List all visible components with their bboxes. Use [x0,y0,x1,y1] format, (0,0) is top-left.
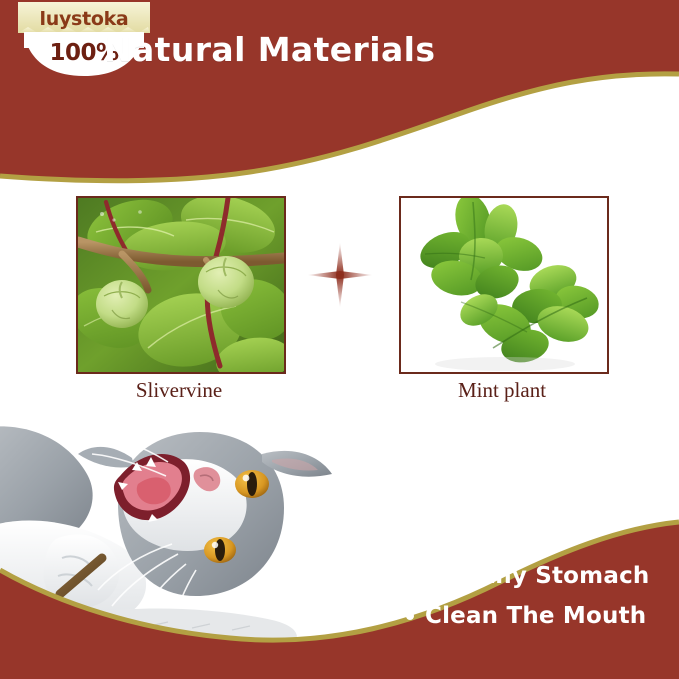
brand-name-text: luystoka [40,8,129,30]
plus-icon [305,240,375,310]
caption-mint: Mint plant [399,378,605,403]
bullet-dot-icon [406,612,414,620]
caption-silvervine: Slivervine [76,378,282,403]
bullet-dot-icon [406,572,414,580]
benefit-item: Healthy Stomach [406,563,676,589]
ingredient-image-silvervine [76,196,286,374]
silvervine-fruit-right [198,256,254,308]
silvervine-fruit-left [96,280,148,328]
benefits-list: Healthy Stomach Clean The Mouth [406,563,676,643]
benefit-label: Clean The Mouth [425,603,646,629]
page-title: Natural Materials [104,30,435,69]
ingredient-image-mint [399,196,609,374]
benefit-label: Healthy Stomach [425,563,649,589]
benefit-item: Clean The Mouth [406,603,676,629]
infographic-canvas: luystoka 100% Natural Materials [0,0,679,679]
